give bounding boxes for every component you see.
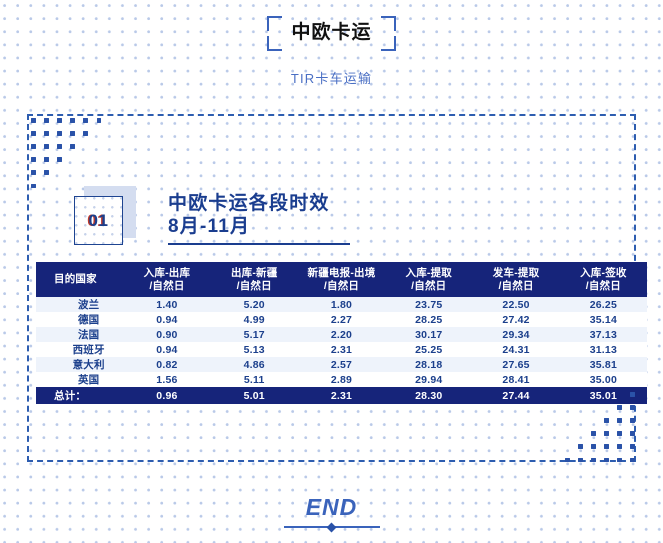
table-cell-value: 28.41 [472,372,559,387]
total-cell: 0.96 [123,387,210,404]
table-col-header-line1: 发车-提取 [472,267,559,280]
table-col-header-line2: /自然日 [123,280,210,293]
table-cell-value: 2.27 [298,312,385,327]
table-col-header: 出库-新疆/自然日 [211,262,298,297]
table-col-header-line1: 出库-新疆 [211,267,298,280]
total-cell: 27.44 [472,387,559,404]
total-label: 总计： [36,387,123,404]
table-cell-value: 1.80 [298,297,385,312]
index-badge-box: 01 [74,196,123,245]
table-row: 意大利0.824.862.5728.1827.6535.81 [36,357,647,372]
table-cell-value: 0.94 [123,312,210,327]
table-col-header: 发车-提取/自然日 [472,262,559,297]
table-row: 英国1.565.112.8929.9428.4135.00 [36,372,647,387]
table-cell-value: 0.82 [123,357,210,372]
table-cell-value: 24.31 [472,342,559,357]
table-total-row: 总计： 0.96 5.01 2.31 28.30 27.44 35.01 [36,387,647,404]
table-cell-value: 29.34 [472,327,559,342]
table-col-header-line2: /自然日 [211,280,298,293]
table-cell-value: 1.56 [123,372,210,387]
page-title: 中欧卡运各段时效 8月-11月 [168,192,468,238]
corner-bracket-icon [267,16,282,31]
footer-end: END [0,496,663,531]
table-cell-country: 波兰 [36,297,123,312]
table-col-header: 入库-签收/自然日 [560,262,647,297]
table-col-header-line2: /自然日 [472,280,559,293]
table-col-header: 新疆电报-出境/自然日 [298,262,385,297]
page-title-line1: 中欧卡运各段时效 [168,192,468,215]
corner-bracket-icon [381,16,396,31]
table-cell-country: 意大利 [36,357,123,372]
total-cell: 5.01 [211,387,298,404]
table-footer: 总计： 0.96 5.01 2.31 28.30 27.44 35.01 [36,387,647,404]
table-cell-country: 德国 [36,312,123,327]
table-body: 波兰1.405.201.8023.7522.5026.25德国0.944.992… [36,297,647,387]
table-cell-value: 2.89 [298,372,385,387]
table-cell-value: 27.42 [472,312,559,327]
table-cell-value: 25.25 [385,342,472,357]
table-cell-value: 35.14 [560,312,647,327]
table-col-header-line1: 入库-出库 [123,267,210,280]
table-header: 目的国家 入库-出库/自然日 出库-新疆/自然日 新疆电报-出境/自然日 入库-… [36,262,647,297]
total-cell: 2.31 [298,387,385,404]
table-col-header-line2: /自然日 [298,280,385,293]
timeliness-table: 目的国家 入库-出库/自然日 出库-新疆/自然日 新疆电报-出境/自然日 入库-… [36,262,647,404]
page-title-line2: 8月-11月 [168,215,468,238]
table-col-header: 入库-提取/自然日 [385,262,472,297]
footer-end-label: END [0,496,663,519]
table-header-row: 目的国家 入库-出库/自然日 出库-新疆/自然日 新疆电报-出境/自然日 入库-… [36,262,647,297]
table-col-header-line2: /自然日 [560,280,647,293]
footer-rule-diamond-icon [326,522,336,532]
table-cell-value: 27.65 [472,357,559,372]
table-row: 波兰1.405.201.8023.7522.5026.25 [36,297,647,312]
table-cell-value: 0.90 [123,327,210,342]
table-row: 法国0.905.172.2030.1729.3437.13 [36,327,647,342]
table-cell-value: 37.13 [560,327,647,342]
table-cell-value: 4.99 [211,312,298,327]
table-cell-value: 5.13 [211,342,298,357]
table-cell-country: 西班牙 [36,342,123,357]
brand-subtitle: TIR卡车运输 [0,68,663,87]
index-badge: 01 [74,186,136,248]
footer-rule-wrap [284,523,380,531]
table-cell-value: 22.50 [472,297,559,312]
table-cell-country: 法国 [36,327,123,342]
table-cell-value: 23.75 [385,297,472,312]
total-cell: 28.30 [385,387,472,404]
table-col-header-line1: 入库-签收 [560,267,647,280]
table-cell-value: 31.13 [560,342,647,357]
brand-title: 中欧卡运 [291,22,371,43]
table-cell-value: 29.94 [385,372,472,387]
table-cell-value: 35.00 [560,372,647,387]
table-cell-value: 28.25 [385,312,472,327]
brand-logo: 中欧卡运 [0,16,663,51]
index-badge-label: 01 [89,211,109,231]
brand-mark: 中欧卡运 [267,16,395,51]
table-col-header-line1: 入库-提取 [385,267,472,280]
table-cell-country: 英国 [36,372,123,387]
table-cell-value: 35.81 [560,357,647,372]
table-cell-value: 5.17 [211,327,298,342]
table-cell-value: 2.20 [298,327,385,342]
page-title-rule [168,243,350,245]
table-cell-value: 0.94 [123,342,210,357]
corner-bracket-icon [267,36,282,51]
table-col-header: 目的国家 [36,262,123,297]
total-cell: 35.01 [560,387,647,404]
table-cell-value: 2.31 [298,342,385,357]
table-row: 西班牙0.945.132.3125.2524.3131.13 [36,342,647,357]
table-col-header-line1: 目的国家 [54,273,123,286]
table-cell-value: 2.57 [298,357,385,372]
table-cell-value: 5.20 [211,297,298,312]
table-row: 德国0.944.992.2728.2527.4235.14 [36,312,647,327]
table-cell-value: 4.86 [211,357,298,372]
table-cell-value: 30.17 [385,327,472,342]
table-col-header-line2: /自然日 [385,280,472,293]
table-col-header: 入库-出库/自然日 [123,262,210,297]
table-col-header-line1: 新疆电报-出境 [298,267,385,280]
table-cell-value: 5.11 [211,372,298,387]
table-cell-value: 26.25 [560,297,647,312]
table-cell-value: 28.18 [385,357,472,372]
corner-bracket-icon [381,36,396,51]
table-cell-value: 1.40 [123,297,210,312]
